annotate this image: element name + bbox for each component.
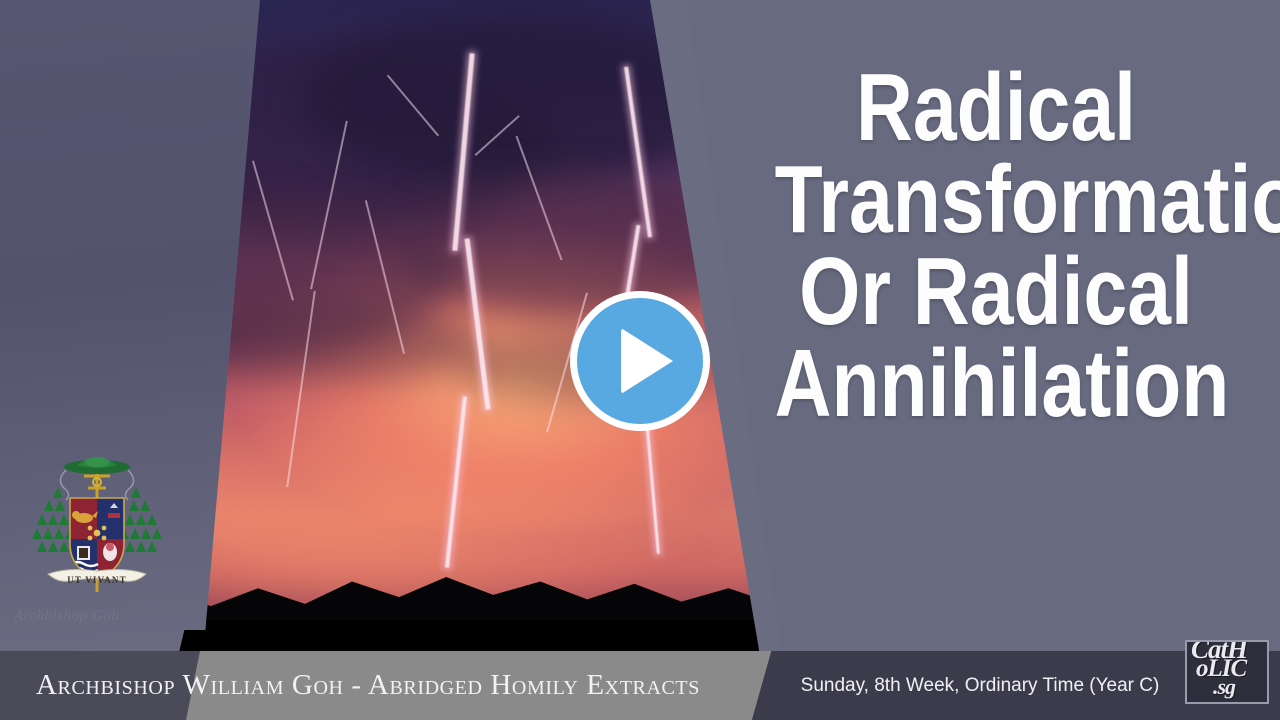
emblem-watermark: Archbishop Goh xyxy=(14,608,174,625)
title-line-3: Or Radical xyxy=(775,246,1218,338)
cloud-mass xyxy=(300,13,734,185)
video-thumbnail: UT VIVANT Archbishop Goh Radical Transfo… xyxy=(0,0,1280,720)
coat-of-arms-motto: UT VIVANT xyxy=(67,575,127,585)
speaker-caption: Archbishop William Goh - Abridged Homily… xyxy=(36,651,746,720)
play-button[interactable] xyxy=(570,291,710,431)
title-line-2: Transformation xyxy=(775,154,1218,246)
liturgical-day-caption: Sunday, 8th Week, Ordinary Time (Year C) xyxy=(780,651,1180,720)
coat-of-arms-emblem: UT VIVANT xyxy=(22,440,172,605)
video-title: Radical Transformation Or Radical Annihi… xyxy=(775,62,1218,431)
catholic-sg-logo[interactable]: CatH oLIC .sg xyxy=(1185,640,1269,704)
cloud-mass xyxy=(398,172,748,317)
title-line-1: Radical xyxy=(775,62,1218,154)
title-line-4: Annihilation xyxy=(775,338,1218,430)
play-triangle-icon xyxy=(621,328,673,394)
logo-line-3: .sg xyxy=(1213,676,1235,698)
